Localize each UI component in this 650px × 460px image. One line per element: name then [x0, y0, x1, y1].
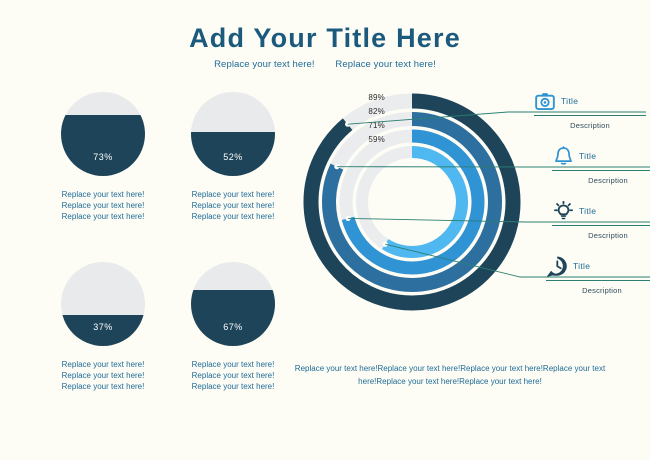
gauge-caption-line: Replace your text here! — [38, 200, 168, 211]
bell-icon — [552, 145, 574, 167]
ring-label-4: 59% — [351, 135, 385, 144]
legend-head: Title — [534, 90, 646, 116]
lightbulb-icon — [552, 200, 574, 222]
gauge-circle: 37% — [61, 262, 145, 346]
header: Add Your Title Here Replace your text he… — [0, 22, 650, 70]
page-title: Add Your Title Here — [0, 22, 650, 54]
gauge-fill — [61, 115, 145, 176]
gauge-item[interactable]: 52% Replace your text here!Replace your … — [168, 92, 298, 222]
gauge-value: 67% — [191, 322, 275, 332]
gauge-value: 37% — [61, 322, 145, 332]
infographic-canvas: Add Your Title Here Replace your text he… — [0, 0, 650, 460]
gauge-circle: 52% — [191, 92, 275, 176]
legend-head: Title — [552, 200, 650, 226]
legend-title: Title — [561, 96, 578, 106]
gauge-caption-line: Replace your text here! — [168, 189, 298, 200]
gauge-item[interactable]: 73% Replace your text here!Replace your … — [38, 92, 168, 222]
camera-icon — [534, 90, 556, 112]
ring-label-1: 89% — [351, 93, 385, 102]
legend-item-lightbulb[interactable]: Title Description — [552, 200, 650, 240]
subtitle-row: Replace your text here! Replace your tex… — [0, 59, 650, 70]
legend-item-bell[interactable]: Title Description — [552, 145, 650, 185]
gauge-caption-line: Replace your text here! — [168, 381, 298, 392]
legend-head: Title — [552, 145, 650, 171]
gauge-item[interactable]: 37% Replace your text here!Replace your … — [38, 262, 168, 392]
ring-marker-dot — [345, 122, 350, 127]
gauge-caption: Replace your text here!Replace your text… — [38, 189, 168, 222]
ring-label-3: 71% — [351, 121, 385, 130]
gauge-circle: 67% — [191, 262, 275, 346]
legend-head: Title — [546, 255, 650, 281]
subtitle-left: Replace your text here! — [214, 59, 315, 70]
legend-description: Description — [552, 231, 650, 240]
gauge-value: 52% — [191, 152, 275, 162]
gauge-caption: Replace your text here!Replace your text… — [168, 189, 298, 222]
ring-label-2: 82% — [351, 107, 385, 116]
gauge-caption-line: Replace your text here! — [38, 381, 168, 392]
gauge-value: 73% — [61, 152, 145, 162]
legend-item-camera[interactable]: Title Description — [534, 90, 646, 130]
ring-arc — [385, 152, 462, 252]
clock-chat-icon — [546, 255, 568, 277]
legend-title: Title — [579, 151, 596, 161]
gauge-caption: Replace your text here!Replace your text… — [38, 359, 168, 392]
legend-description: Description — [552, 176, 650, 185]
subtitle-right: Replace your text here! — [335, 59, 436, 70]
gauge-fill — [191, 290, 275, 346]
legend-description: Description — [546, 286, 650, 295]
gauge-caption-line: Replace your text here! — [168, 200, 298, 211]
gauge-caption-line: Replace your text here! — [168, 211, 298, 222]
gauge-caption: Replace your text here!Replace your text… — [168, 359, 298, 392]
gauge-caption-line: Replace your text here! — [38, 211, 168, 222]
legend-description: Description — [534, 121, 646, 130]
gauge-caption-line: Replace your text here! — [38, 189, 168, 200]
gauge-item[interactable]: 67% Replace your text here!Replace your … — [168, 262, 298, 392]
ring-marker-dot — [334, 164, 339, 169]
concentric-ring-chart[interactable] — [296, 86, 528, 318]
ring-marker-dot — [345, 216, 350, 221]
legend-item-clock[interactable]: Title Description — [546, 255, 650, 295]
gauge-circle: 73% — [61, 92, 145, 176]
gauge-caption-line: Replace your text here! — [168, 370, 298, 381]
gauge-caption-line: Replace your text here! — [38, 370, 168, 381]
ring-marker-dot — [383, 242, 388, 247]
legend-title: Title — [573, 261, 590, 271]
legend-title: Title — [579, 206, 596, 216]
footer-paragraph: Replace your text here!Replace your text… — [290, 362, 610, 388]
gauge-caption-line: Replace your text here! — [38, 359, 168, 370]
gauge-caption-line: Replace your text here! — [168, 359, 298, 370]
